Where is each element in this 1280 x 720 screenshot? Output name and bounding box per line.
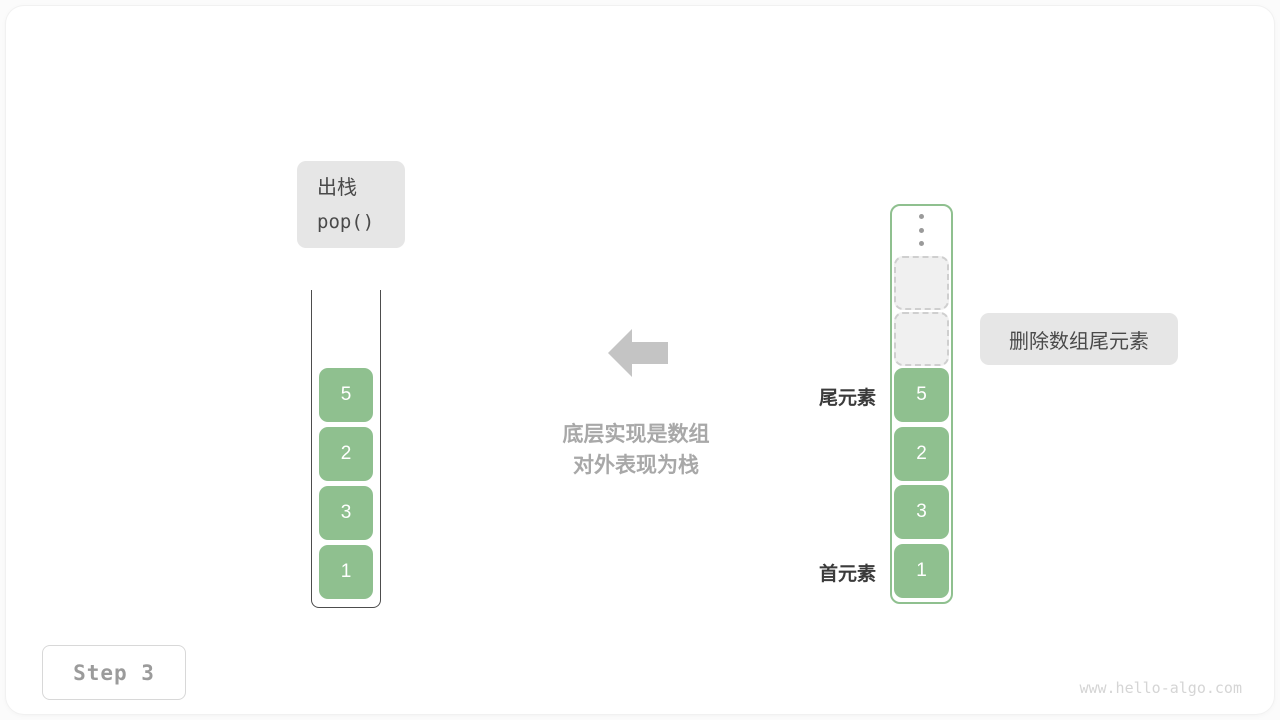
pop-callout-line2: pop() [317, 205, 405, 239]
array-cell: 1 [894, 544, 949, 598]
array-cell: 3 [894, 485, 949, 539]
array-empty-slot [894, 312, 949, 366]
arrow-left-icon [606, 324, 670, 382]
delete-tail-callout-text: 删除数组尾元素 [1009, 325, 1149, 354]
array-empty-slot [894, 256, 949, 310]
watermark: www.hello-algo.com [1079, 679, 1242, 697]
stack-cell: 3 [319, 486, 373, 540]
array-cell-list: 5231 [890, 204, 953, 604]
array-cell: 2 [894, 427, 949, 481]
array-head-label: 首元素 [756, 559, 876, 586]
array-tail-label: 尾元素 [756, 383, 876, 410]
pop-callout-line1: 出栈 [317, 171, 405, 205]
pop-callout: 出栈 pop() [297, 161, 405, 248]
stack-cell: 1 [319, 545, 373, 599]
stack-cell: 2 [319, 427, 373, 481]
center-note-line2: 对外表现为栈 [496, 450, 776, 481]
diagram-card: 出栈 pop() 5231 底层实现是数组 对外表现为栈 5231 尾元素 首元… [6, 6, 1274, 714]
delete-tail-callout: 删除数组尾元素 [980, 313, 1178, 365]
array-cell: 5 [894, 368, 949, 422]
stack-cell-list: 5231 [311, 290, 381, 608]
center-note: 底层实现是数组 对外表现为栈 [496, 419, 776, 481]
stack-cell: 5 [319, 368, 373, 422]
diagram-page: 出栈 pop() 5231 底层实现是数组 对外表现为栈 5231 尾元素 首元… [0, 0, 1280, 720]
center-note-line1: 底层实现是数组 [496, 419, 776, 450]
step-badge: Step 3 [42, 645, 186, 700]
